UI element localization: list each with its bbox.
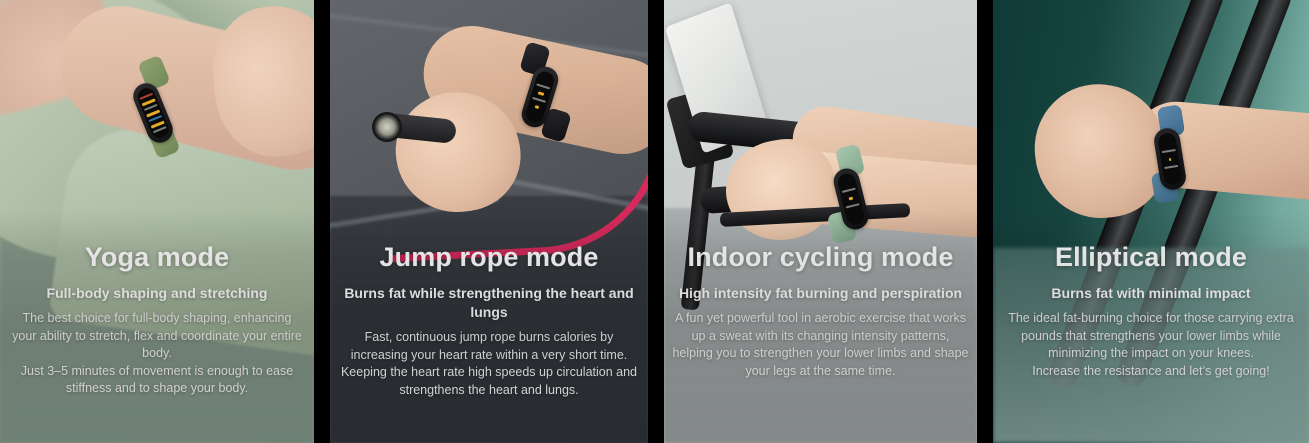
mode-subtitle-yoga: Full-body shaping and stretching xyxy=(10,284,304,303)
mode-card-jump-rope[interactable]: Jump rope mode Burns fat while strengthe… xyxy=(330,0,648,443)
mode-description-jump-rope: Fast, continuous jump rope burns calorie… xyxy=(338,329,640,399)
yoga-text-block: Yoga mode Full-body shaping and stretchi… xyxy=(0,240,314,398)
indoor-cycling-text-block: Indoor cycling mode High intensity fat b… xyxy=(664,240,977,380)
mode-card-elliptical[interactable]: Elliptical mode Burns fat with minimal i… xyxy=(993,0,1309,443)
mode-subtitle-jump-rope: Burns fat while strengthening the heart … xyxy=(338,284,640,322)
mode-description-elliptical: The ideal fat-burning choice for those c… xyxy=(1003,310,1299,380)
mode-title-jump-rope: Jump rope mode xyxy=(338,240,640,274)
mode-card-indoor-cycling[interactable]: Indoor cycling mode High intensity fat b… xyxy=(664,0,977,443)
mode-card-yoga[interactable]: Yoga mode Full-body shaping and stretchi… xyxy=(0,0,314,443)
panel-divider-3 xyxy=(977,0,993,443)
mode-description-yoga: The best choice for full-body shaping, e… xyxy=(10,310,304,398)
panel-divider-1 xyxy=(314,0,330,443)
elliptical-text-block: Elliptical mode Burns fat with minimal i… xyxy=(993,240,1309,380)
mode-title-yoga: Yoga mode xyxy=(10,240,304,274)
workout-modes-gallery: Yoga mode Full-body shaping and stretchi… xyxy=(0,0,1309,443)
mode-subtitle-elliptical: Burns fat with minimal impact xyxy=(1003,284,1299,303)
mode-title-indoor-cycling: Indoor cycling mode xyxy=(672,240,969,274)
mode-title-elliptical: Elliptical mode xyxy=(1003,240,1299,274)
panel-divider-2 xyxy=(648,0,664,443)
mode-description-indoor-cycling: A fun yet powerful tool in aerobic exerc… xyxy=(672,310,969,380)
mode-subtitle-indoor-cycling: High intensity fat burning and perspirat… xyxy=(672,284,969,303)
jump-rope-text-block: Jump rope mode Burns fat while strengthe… xyxy=(330,240,648,399)
